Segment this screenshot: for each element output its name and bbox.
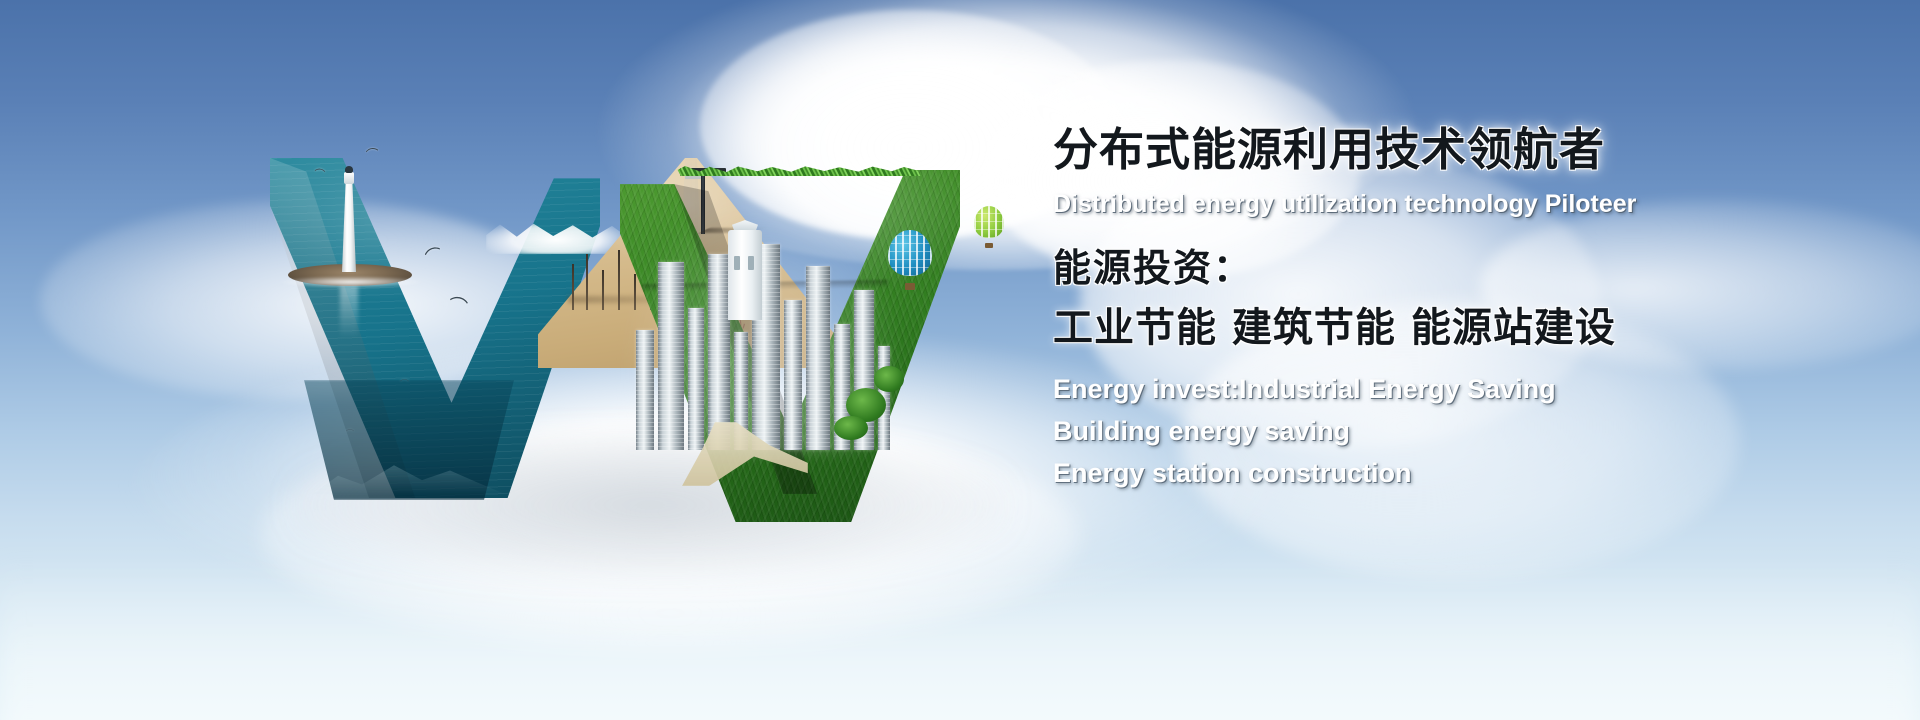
w-logo-artwork: ⌒ ⌒ ⌒ ⌒ ⌒ ⌒ 秋 <box>250 130 1090 550</box>
seagull-icon: ⌒ <box>365 147 380 162</box>
seagull-icon: ⌒ <box>446 296 469 319</box>
lighthouse-reflection <box>340 286 358 338</box>
lighthouse-cap <box>345 166 353 173</box>
banner-copy: 分布式能源利用技术领航者 Distributed energy utilizat… <box>1053 126 1753 500</box>
hot-air-balloon-blue-icon <box>888 230 932 288</box>
hot-air-balloon-green-icon <box>974 206 1004 246</box>
landmark-tower <box>728 230 762 320</box>
shrub-icon <box>834 416 868 440</box>
seagull-icon: ⌒ <box>313 169 325 181</box>
lighthouse-lamp <box>344 172 354 184</box>
cloud-bottom-haze <box>0 560 1920 720</box>
seagull-icon: ⌒ <box>346 430 354 438</box>
subheadline-en: Distributed energy utilization technolog… <box>1053 191 1753 219</box>
headline-cn: 分布式能源利用技术领航者 <box>1053 126 1753 175</box>
lighthouse-icon <box>336 164 362 272</box>
shrub-icon <box>874 366 904 392</box>
service-item-en: Building energy saving <box>1053 416 1753 447</box>
lead-label-cn: 能源投资： <box>1053 248 1753 290</box>
lighthouse-tower <box>342 182 356 272</box>
services-list-en: Energy invest:Industrial Energy Saving B… <box>1053 374 1753 489</box>
service-item-en: Energy invest:Industrial Energy Saving <box>1053 374 1753 405</box>
seagull-icon: ⌒ <box>423 245 445 267</box>
seagull-icon: ⌒ <box>400 380 409 389</box>
services-list-cn: 工业节能 建筑节能 能源站建设 <box>1053 306 1753 350</box>
service-item-en: Energy station construction <box>1053 458 1753 489</box>
hero-banner: ⌒ ⌒ ⌒ ⌒ ⌒ ⌒ 秋 <box>0 0 1920 720</box>
